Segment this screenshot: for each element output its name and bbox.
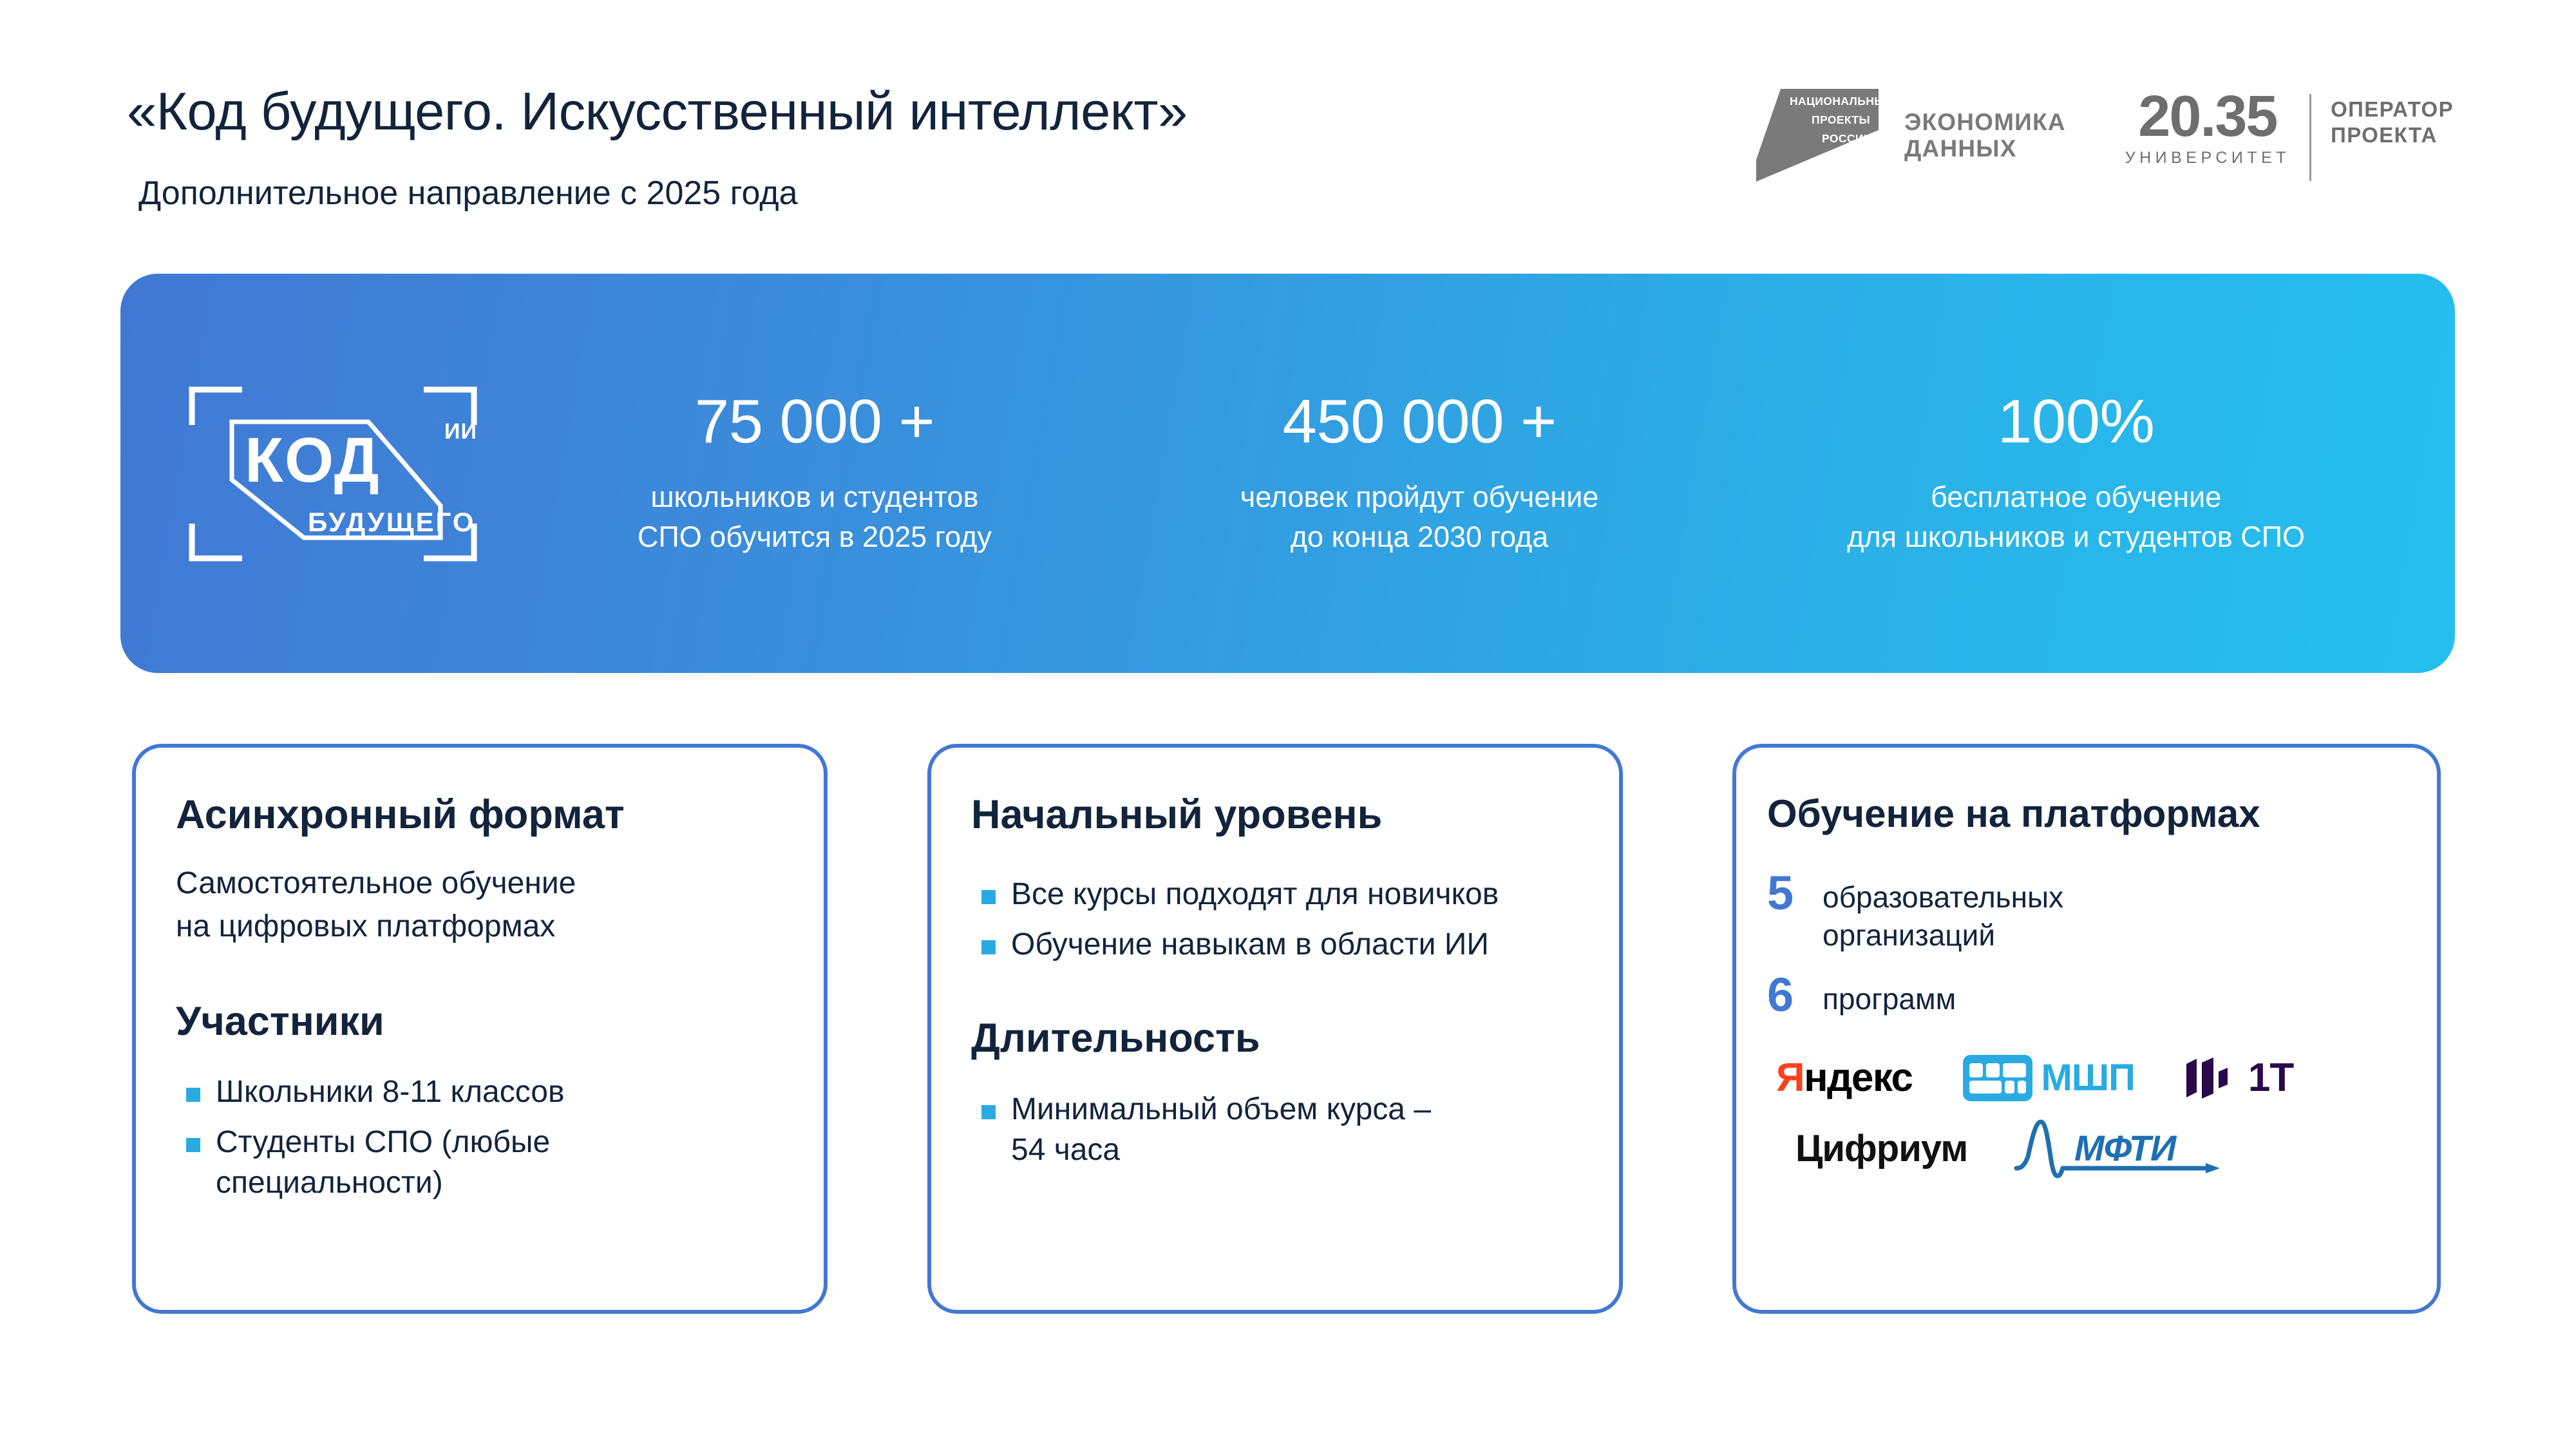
banner-stats: 75 000 + школьников и студентов СПО обуч… (507, 390, 2455, 558)
mshp-label: МШП (2041, 1059, 2135, 1097)
odin-t-logo: 1Т (2184, 1054, 2293, 1103)
np-mark-line1: НАЦИОНАЛЬНЫЕ (1790, 95, 1888, 108)
university-word: УНИВЕРСИТЕТ (2125, 149, 2290, 167)
yandex-ya-letter: Я (1776, 1056, 1804, 1100)
np-label-line1: ЭКОНОМИКА (1904, 109, 2066, 135)
mshp-grid-icon (1962, 1054, 2034, 1103)
operator-line2: ПРОЕКТА (2331, 122, 2454, 148)
stat-value: 450 000 + (1240, 390, 1599, 455)
economy-of-data-label: ЭКОНОМИКА ДАННЫХ (1904, 109, 2066, 162)
partner-row: Яндекс МШП (1767, 1054, 2411, 1103)
card-asynchronous-format: Асинхронный формат Самостоятельное обуче… (132, 744, 828, 1314)
card-bullet-list-top: Все курсы подходят для новичков Обучение… (971, 874, 1579, 965)
platform-counts: 5 образовательных организаций 6 программ (1767, 869, 2411, 1019)
mipt-label: МФТИ (2074, 1128, 2177, 1168)
kod-budushchego-logo: КОД ИИ БУДУЩЕГО (159, 377, 507, 570)
card-paragraph: Самостоятельное обучение на цифровых пла… (176, 862, 784, 947)
stat-value: 75 000 + (638, 390, 992, 455)
count-row: 6 программ (1767, 971, 2411, 1019)
card-heading: Начальный уровень (971, 791, 1579, 838)
card-learning-platforms: Обучение на платформах 5 образовательных… (1732, 744, 2441, 1314)
page-title: «Код будущего. Искусственный интеллект» (127, 80, 1188, 142)
hero-banner: КОД ИИ БУДУЩЕГО 75 000 + школьников и ст… (120, 274, 2455, 673)
stat-label: бесплатное обучение для школьников и сту… (1847, 477, 2305, 557)
count-row: 5 образовательных организаций (1767, 869, 2411, 954)
count-label: программ (1823, 971, 1956, 1018)
stat-label: школьников и студентов СПО обучится в 20… (638, 477, 992, 557)
card-heading: Асинхронный формат (176, 791, 784, 838)
logo-word-top: КОД (245, 424, 381, 495)
partner-row: Цифриум МФТИ (1767, 1118, 2411, 1180)
list-item: Минимальный объем курса – 54 часа (971, 1089, 1579, 1171)
feature-cards: Асинхронный формат Самостоятельное обуче… (0, 744, 2576, 1323)
stat-item: 450 000 + человек пройдут обучение до ко… (1240, 390, 1599, 558)
odin-t-label: 1Т (2248, 1058, 2293, 1098)
card-heading: Обучение на платформах (1767, 791, 2411, 836)
cifrium-logo: Цифриум (1795, 1130, 1967, 1168)
national-projects-logo: НАЦИОНАЛЬНЫЕ ПРОЕКТЫ РОССИИ ЭКОНОМИКА ДА… (1752, 84, 2066, 187)
national-projects-mark-icon: НАЦИОНАЛЬНЫЕ ПРОЕКТЫ РОССИИ (1752, 84, 1888, 187)
partner-logos: Яндекс МШП (1767, 1054, 2411, 1180)
mshp-logo: МШП (1962, 1054, 2135, 1103)
list-item: Все курсы подходят для новичков (971, 874, 1579, 914)
list-item: Школьники 8-11 классов (176, 1072, 784, 1112)
card-subheading: Участники (176, 998, 784, 1045)
list-item: Обучение навыкам в области ИИ (971, 924, 1579, 965)
count-number: 5 (1767, 869, 1801, 917)
yandex-rest-letters: ндекс (1804, 1056, 1912, 1100)
card-bullet-list: Минимальный объем курса – 54 часа (971, 1089, 1579, 1171)
stat-label: человек пройдут обучение до конца 2030 г… (1240, 477, 1599, 557)
page-subtitle: Дополнительное направление с 2025 года (138, 174, 798, 213)
np-mark-line3: РОССИИ (1822, 132, 1872, 145)
card-beginner-level: Начальный уровень Все курсы подходят для… (927, 744, 1623, 1314)
stat-item: 100% бесплатное обучение для школьников … (1847, 390, 2305, 558)
logo-divider (2309, 94, 2311, 181)
np-label-line2: ДАННЫХ (1904, 135, 2066, 162)
mipt-logo: МФТИ (2012, 1118, 2225, 1180)
university-number: 20.35 (2138, 90, 2277, 144)
count-label: образовательных организаций (1823, 869, 2063, 954)
yandex-logo: Яндекс (1776, 1058, 1913, 1098)
header-logo-group: НАЦИОНАЛЬНЫЕ ПРОЕКТЫ РОССИИ ЭКОНОМИКА ДА… (1752, 84, 2454, 187)
logo-superscript: ИИ (444, 419, 477, 444)
list-item: Студенты СПО (любые специальности) (176, 1122, 784, 1204)
stat-item: 75 000 + школьников и студентов СПО обуч… (638, 390, 992, 558)
np-mark-line2: ПРОЕКТЫ (1812, 113, 1870, 126)
card-bullet-list: Школьники 8-11 классов Студенты СПО (люб… (176, 1072, 784, 1203)
stat-value: 100% (1847, 390, 2305, 455)
kod-budushchego-mark-icon: КОД ИИ БУДУЩЕГО (182, 377, 484, 570)
university-mark: 20.35 УНИВЕРСИТЕТ (2125, 90, 2290, 168)
operator-line1: ОПЕРАТОР (2331, 97, 2454, 122)
university-2035-logo: 20.35 УНИВЕРСИТЕТ ОПЕРАТОР ПРОЕКТА (2125, 90, 2454, 181)
logo-word-bottom: БУДУЩЕГО (308, 507, 475, 537)
odin-t-bars-icon (2184, 1054, 2238, 1103)
mipt-wave-icon: МФТИ (2012, 1118, 2225, 1180)
project-operator-label: ОПЕРАТОР ПРОЕКТА (2331, 97, 2454, 149)
count-number: 6 (1767, 971, 1801, 1019)
card-subheading: Длительность (971, 1015, 1579, 1061)
page-header: «Код будущего. Искусственный интеллект» … (0, 0, 2576, 258)
